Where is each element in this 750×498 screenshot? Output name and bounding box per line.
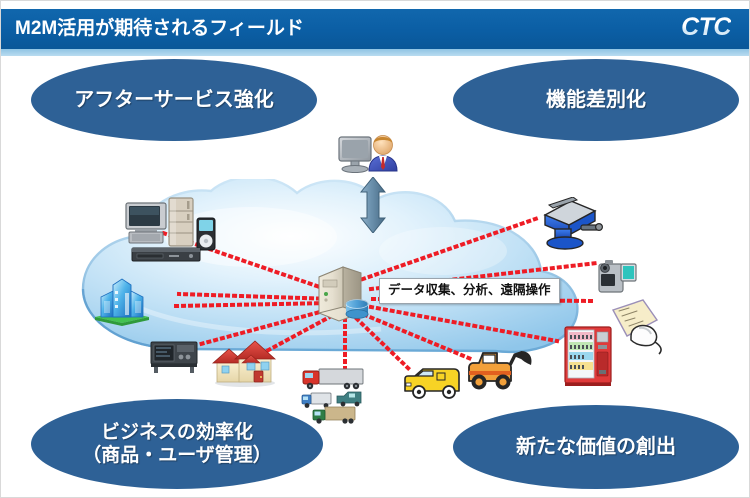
dvd-recorder-icon xyxy=(131,246,201,264)
callout-bottom-right-label: 新たな価値の創出 xyxy=(516,435,676,459)
truck-fleet-icon xyxy=(301,363,379,425)
callout-top-left-label: アフターサービス強化 xyxy=(74,88,274,112)
industrial-machine-icon xyxy=(149,338,201,374)
office-building-icon xyxy=(91,277,153,327)
callout-bottom-right: 新たな価値の創出 xyxy=(453,405,739,489)
house-icon xyxy=(209,333,281,387)
industrial-vise-icon xyxy=(537,197,603,253)
delivery-van-icon xyxy=(401,365,463,401)
callout-bottom-left-label-line1: ビジネスの効率化 xyxy=(82,421,272,444)
callout-bottom-left-label-line2: （商品・ユーザ管理） xyxy=(82,444,272,467)
slide-canvas: M2M活用が期待されるフィールド CTC アフターサービス強化 機能差別化 ビジ… xyxy=(0,0,750,498)
server-database-icon xyxy=(313,263,375,325)
vending-machine-icon xyxy=(563,326,613,388)
callout-top-right: 機能差別化 xyxy=(453,59,739,141)
operator-with-monitor-icon xyxy=(335,129,407,177)
up-down-arrow-icon xyxy=(360,177,386,233)
refrigerator-icon xyxy=(167,197,195,247)
page-title: M2M活用が期待されるフィールド xyxy=(15,15,304,43)
callout-top-right-label: 機能差別化 xyxy=(546,88,646,112)
television-icon xyxy=(123,201,169,245)
slide-header-underline xyxy=(1,49,750,56)
center-label-box: データ収集、分析、遠隔操作 xyxy=(379,278,560,304)
ctc-logo: CTC xyxy=(681,13,731,42)
callout-top-left: アフターサービス強化 xyxy=(31,59,317,141)
backhoe-excavator-icon xyxy=(463,343,535,397)
center-label-text: データ収集、分析、遠隔操作 xyxy=(388,283,551,297)
camcorder-icon xyxy=(593,256,639,298)
handheld-scanner-icon xyxy=(609,296,671,356)
callout-bottom-left: ビジネスの効率化 （商品・ユーザ管理） xyxy=(31,399,323,489)
